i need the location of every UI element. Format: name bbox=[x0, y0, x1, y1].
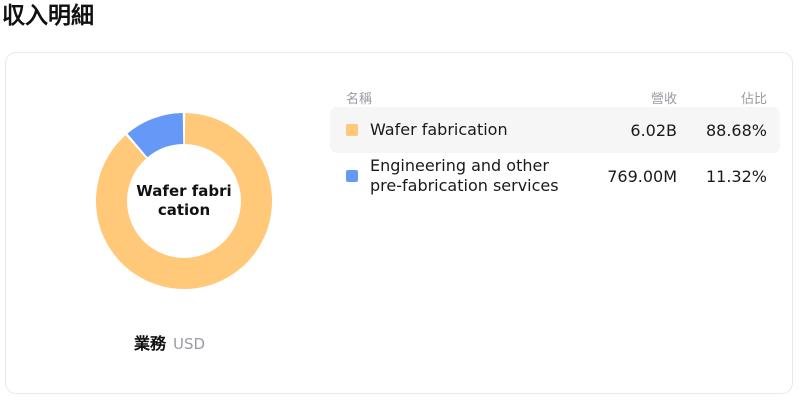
legend-swatch-icon bbox=[346, 124, 358, 136]
table-item-label: Wafer fabrication bbox=[370, 120, 508, 140]
column-header-percent: 佔比 bbox=[677, 88, 767, 107]
column-header-revenue: 營收 bbox=[567, 88, 677, 107]
table-body: Wafer fabrication6.02B88.68%Engineering … bbox=[330, 107, 780, 199]
table-header-row: 名稱 營收 佔比 bbox=[330, 81, 780, 107]
column-header-name: 名稱 bbox=[346, 88, 567, 107]
legend-swatch-icon bbox=[346, 170, 358, 182]
donut-center-label: Wafer fabrication bbox=[132, 182, 236, 220]
chart-footer: 業務 USD bbox=[134, 330, 205, 354]
table-row[interactable]: Wafer fabrication6.02B88.68% bbox=[330, 107, 780, 153]
table-cell-percent: 88.68% bbox=[677, 121, 767, 140]
table-cell-percent: 11.32% bbox=[677, 167, 767, 186]
table-item-label: Engineering and otherpre-fabrication ser… bbox=[370, 156, 559, 196]
chart-currency-label: USD bbox=[173, 335, 205, 353]
chart-series-name: 業務 bbox=[134, 330, 166, 354]
revenue-breakdown-card: Wafer fabrication 業務 USD 名稱 營收 佔比 Wafer … bbox=[5, 52, 793, 394]
table-cell-name: Engineering and otherpre-fabrication ser… bbox=[346, 156, 567, 196]
donut-chart: Wafer fabrication bbox=[89, 106, 279, 296]
table-item-label-line2: pre-fabrication services bbox=[370, 176, 559, 196]
table-cell-revenue: 6.02B bbox=[567, 121, 677, 140]
revenue-table: 名稱 營收 佔比 Wafer fabrication6.02B88.68%Eng… bbox=[330, 81, 780, 199]
table-cell-name: Wafer fabrication bbox=[346, 120, 567, 140]
page-title: 収入明細 bbox=[2, 0, 94, 32]
table-cell-revenue: 769.00M bbox=[567, 167, 677, 186]
table-row[interactable]: Engineering and otherpre-fabrication ser… bbox=[330, 153, 780, 199]
